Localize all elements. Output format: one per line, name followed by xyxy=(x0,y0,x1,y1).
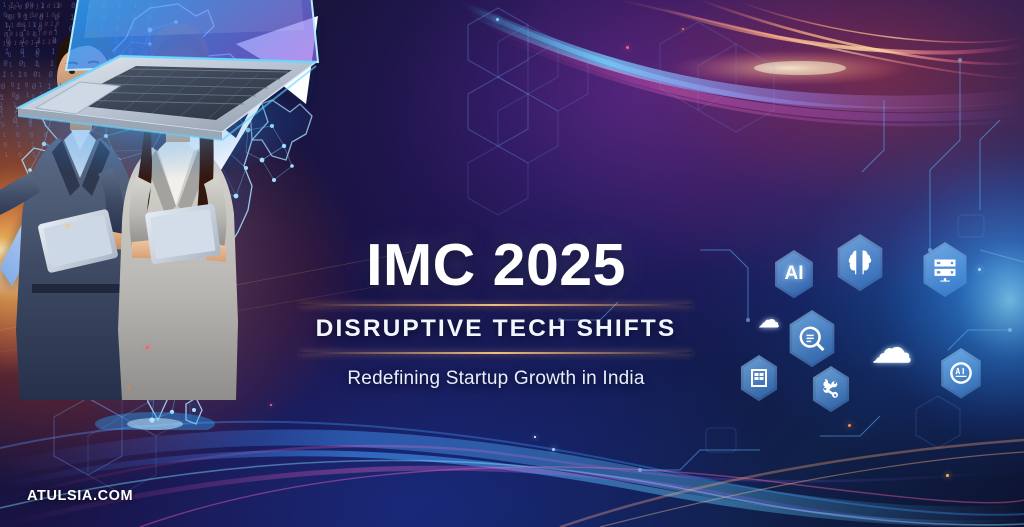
cloud-small-icon-glyph: ☁ xyxy=(759,308,780,333)
server-icon-hex-background xyxy=(920,242,970,297)
cloud-icon-hex-inner xyxy=(865,319,919,379)
ai-icon[interactable]: AI xyxy=(772,250,816,298)
cloud-icon-hex-background xyxy=(862,316,922,382)
cloud-small-icon[interactable]: ☁ xyxy=(750,300,788,342)
cloud-small-icon-hex-inner xyxy=(753,303,785,339)
network-share-icon-glyph xyxy=(819,377,843,401)
woman-figure xyxy=(118,24,238,400)
gear-ai-icon-glyph xyxy=(948,360,974,386)
tablet-woman xyxy=(145,203,222,264)
brain-icon-glyph xyxy=(845,248,875,278)
brain-icon-hex-background xyxy=(834,234,886,291)
gear-ai-icon-hex-background xyxy=(938,348,984,399)
binary-pattern-lower-left: 1001011010 0110100101 1100110010 0011011… xyxy=(0,0,209,123)
search-data-icon[interactable] xyxy=(786,310,838,367)
binary-pattern-right: 0 1 1 0 1 0 0 1 0 1 0 1 1 1 0 0 0 0 1 1 … xyxy=(0,0,162,230)
database-icon-hex-background xyxy=(738,355,780,401)
banner-root: 1 0 1 1 0 1 0 1 1 0 0 1 0 0 1 1 0 1 0 0 … xyxy=(0,0,1024,527)
search-data-icon-glyph xyxy=(797,324,827,354)
database-icon-hex-inner xyxy=(741,358,777,398)
tagline: Redefining Startup Growth in India xyxy=(300,368,692,390)
ai-icon-hex-inner xyxy=(775,253,813,295)
database-icon-glyph xyxy=(747,366,771,390)
glowing-laptop xyxy=(0,0,330,190)
server-icon-glyph xyxy=(931,256,959,284)
watermark: ATULSIA.COM xyxy=(27,488,133,504)
gear-ai-icon[interactable] xyxy=(938,348,984,399)
brain-icon-hex-inner xyxy=(837,237,883,288)
man-figure xyxy=(0,30,140,400)
search-data-icon-hex-inner xyxy=(789,313,835,364)
ai-icon-hex-background xyxy=(772,250,816,298)
subtitle: DISRUPTIVE TECH SHIFTS xyxy=(300,315,692,343)
business-professionals xyxy=(0,0,300,400)
search-data-icon-hex-background xyxy=(786,310,838,367)
gear-ai-icon-hex-inner xyxy=(941,351,981,396)
server-icon[interactable] xyxy=(920,242,970,297)
binary-pattern-top-left: 1 0 1 1 0 1 0 1 1 0 0 1 0 0 1 1 0 1 0 0 … xyxy=(0,0,230,190)
database-icon[interactable] xyxy=(738,355,780,401)
ai-icon-glyph: AI xyxy=(785,263,804,285)
network-share-icon-hex-background xyxy=(810,366,852,412)
brain-icon[interactable] xyxy=(834,234,886,291)
page-title: IMC 2025 xyxy=(300,236,692,295)
network-share-icon-hex-inner xyxy=(813,369,849,409)
cloud-icon[interactable]: ☁ xyxy=(862,316,922,382)
headline-block: IMC 2025 DISRUPTIVE TECH SHIFTS Redefini… xyxy=(300,236,692,390)
cloud-icon-glyph: ☁ xyxy=(872,326,912,372)
divider-bottom xyxy=(300,352,692,354)
server-icon-hex-inner xyxy=(923,245,967,294)
network-share-icon[interactable] xyxy=(810,366,852,412)
india-network-map xyxy=(0,0,330,430)
divider-top xyxy=(300,304,692,306)
cloud-small-icon-hex-background xyxy=(750,300,788,342)
tablet-man xyxy=(37,209,118,274)
